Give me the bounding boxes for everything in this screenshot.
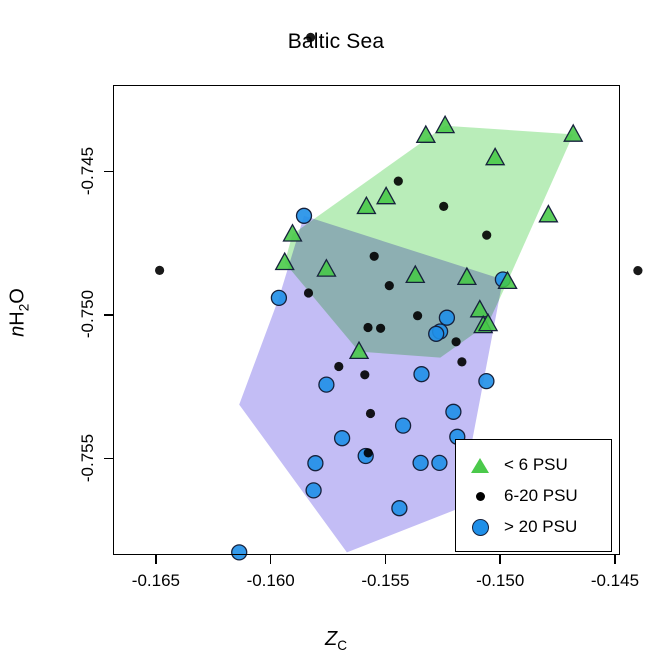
legend-label: < 6 PSU bbox=[504, 455, 568, 475]
y-tick-label: -0.750 bbox=[78, 269, 98, 359]
legend-entry[interactable]: < 6 PSU bbox=[456, 450, 613, 480]
legend-circle-icon bbox=[456, 519, 504, 536]
y-tick-mark bbox=[104, 314, 113, 315]
y-tick-mark bbox=[104, 458, 113, 459]
legend-entry[interactable]: 6-20 PSU bbox=[456, 481, 613, 511]
dot-icon bbox=[476, 492, 485, 501]
x-tick-mark bbox=[155, 555, 156, 564]
legend-entry[interactable]: > 20 PSU bbox=[456, 512, 613, 542]
x-tick-label: -0.155 bbox=[340, 571, 430, 591]
triangle-icon bbox=[471, 458, 489, 473]
legend-label: > 20 PSU bbox=[504, 517, 577, 537]
x-tick-mark bbox=[270, 555, 271, 564]
x-axis-label-main: Z bbox=[325, 628, 337, 650]
legend-dot-icon bbox=[456, 492, 504, 501]
x-tick-mark bbox=[385, 555, 386, 564]
x-tick-label: -0.150 bbox=[455, 571, 545, 591]
x-tick-label: -0.160 bbox=[226, 571, 316, 591]
x-tick-mark bbox=[499, 555, 500, 564]
x-tick-mark bbox=[614, 555, 615, 564]
y-axis-label-o: O bbox=[7, 288, 29, 304]
data-point bbox=[633, 266, 642, 275]
y-axis-label: nH2O bbox=[7, 258, 32, 368]
x-axis-label-sub: C bbox=[337, 638, 347, 653]
y-tick-mark bbox=[104, 171, 113, 172]
y-axis-label-sub: 2 bbox=[17, 304, 32, 312]
legend-label: 6-20 PSU bbox=[504, 486, 578, 506]
x-tick-label: -0.145 bbox=[570, 571, 660, 591]
legend-box: < 6 PSU6-20 PSU> 20 PSU bbox=[455, 439, 612, 552]
x-tick-label: -0.165 bbox=[111, 571, 201, 591]
y-tick-label: -0.745 bbox=[78, 126, 98, 216]
chart-canvas: Baltic Sea -0.165-0.160-0.155-0.150-0.14… bbox=[0, 0, 672, 671]
y-tick-label: -0.755 bbox=[78, 413, 98, 503]
y-axis-label-main: n bbox=[7, 326, 29, 337]
circle-icon bbox=[472, 519, 489, 536]
data-point bbox=[306, 33, 315, 42]
y-axis-label-h: H bbox=[7, 311, 29, 325]
x-axis-label: ZC bbox=[0, 628, 672, 653]
legend-triangle-icon bbox=[456, 458, 504, 473]
